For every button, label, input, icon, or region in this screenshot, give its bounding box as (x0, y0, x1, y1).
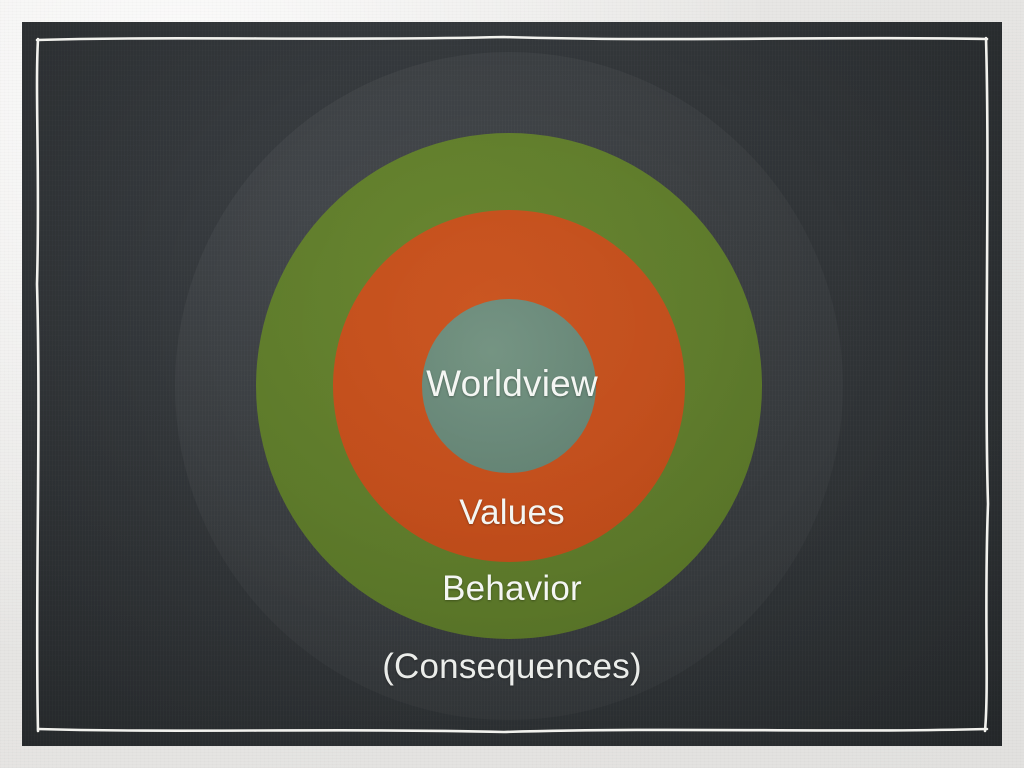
chalkboard-vignette (22, 22, 1002, 746)
slide-canvas: Worldview Values Behavior (Consequences) (0, 0, 1024, 768)
chalkboard-panel: Worldview Values Behavior (Consequences) (22, 22, 1002, 746)
